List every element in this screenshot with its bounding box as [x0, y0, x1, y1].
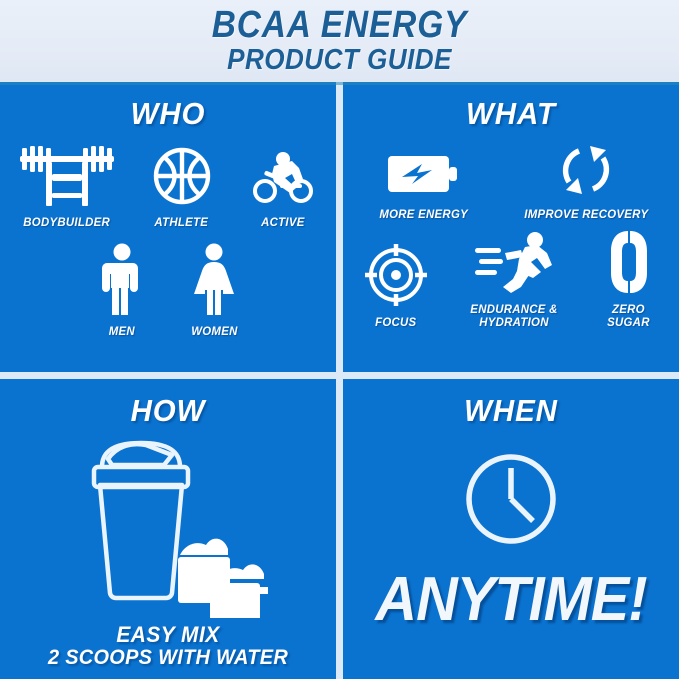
what-row-bottom: FOCUS: [343, 231, 679, 329]
what-item-improve-recovery: IMPROVE RECOVERY: [499, 142, 674, 221]
what-label-improve-recovery: IMPROVE RECOVERY: [524, 208, 648, 221]
basketball-icon: [152, 146, 212, 211]
who-label-women: WOMEN: [191, 325, 237, 338]
how-caption: EASY MIX 2 SCOOPS WITH WATER: [8, 623, 327, 669]
what-row-top: MORE ENERGY: [343, 142, 679, 221]
cyclist-icon: [252, 148, 314, 211]
how-heading: HOW: [8, 379, 327, 429]
what-label-endurance-hydration: ENDURANCE & HYDRATION: [470, 303, 557, 329]
how-caption-line1: EASY MIX: [8, 623, 327, 646]
man-figure-icon: [100, 243, 144, 320]
woman-figure-icon: [188, 243, 240, 320]
who-heading: WHO: [8, 82, 327, 132]
when-illustration: [343, 451, 679, 552]
who-item-athlete: ATHLETE: [129, 146, 234, 229]
who-label-bodybuilder: BODYBUILDER: [23, 216, 110, 229]
battery-bolt-icon: [388, 150, 460, 203]
runner-icon: [475, 231, 553, 298]
quadrant-when: WHEN ANYTIME!: [343, 379, 679, 679]
what-label-more-energy: MORE ENERGY: [379, 208, 468, 221]
how-caption-line2: 2 SCOOPS WITH WATER: [8, 646, 327, 669]
barbell-rack-icon: [20, 144, 114, 211]
zero-sugar-icon: [609, 231, 649, 298]
quadrant-who: WHO: [0, 82, 336, 372]
who-item-men: MEN: [76, 243, 168, 338]
target-icon: [365, 244, 427, 311]
clock-icon: [463, 451, 559, 552]
who-label-men: MEN: [109, 325, 135, 338]
what-item-focus: FOCUS: [346, 244, 446, 329]
product-guide-poster: BCAA ENERGY PRODUCT GUIDE: [0, 0, 679, 679]
who-row-bottom: MEN WOMEN: [0, 243, 336, 338]
quadrant-what: WHAT MORE ENERGY: [343, 82, 679, 372]
who-label-active: ACTIVE: [261, 216, 305, 229]
when-answer: ANYTIME!: [355, 568, 667, 632]
header-edge-line: [0, 82, 679, 85]
what-heading: WHAT: [351, 82, 670, 132]
what-item-more-energy: MORE ENERGY: [349, 150, 499, 221]
poster-subtitle: PRODUCT GUIDE: [34, 45, 645, 76]
quadrant-how: HOW: [0, 379, 336, 679]
recovery-arrows-icon: [557, 142, 615, 203]
poster-title: BCAA ENERGY: [41, 0, 639, 45]
who-item-active: ACTIVE: [234, 148, 332, 229]
who-row-top: BODYBUILDER: [0, 144, 336, 229]
how-illustration: [0, 433, 336, 623]
what-item-endurance-hydration: ENDURANCE & HYDRATION: [446, 231, 581, 329]
who-label-athlete: ATHLETE: [155, 216, 209, 229]
who-item-bodybuilder: BODYBUILDER: [4, 144, 129, 229]
who-item-women: WOMEN: [168, 243, 260, 338]
horizontal-divider: [0, 372, 679, 379]
poster-header: BCAA ENERGY PRODUCT GUIDE: [0, 0, 679, 82]
when-heading: WHEN: [351, 379, 670, 429]
vertical-divider: [336, 82, 343, 679]
quadrant-grid: WHO: [0, 82, 679, 679]
shaker-bottle-icon: [68, 433, 268, 623]
what-label-focus: FOCUS: [375, 316, 416, 329]
what-label-zero-sugar: ZERO SUGAR: [607, 303, 650, 329]
what-item-zero-sugar: ZERO SUGAR: [581, 231, 676, 329]
